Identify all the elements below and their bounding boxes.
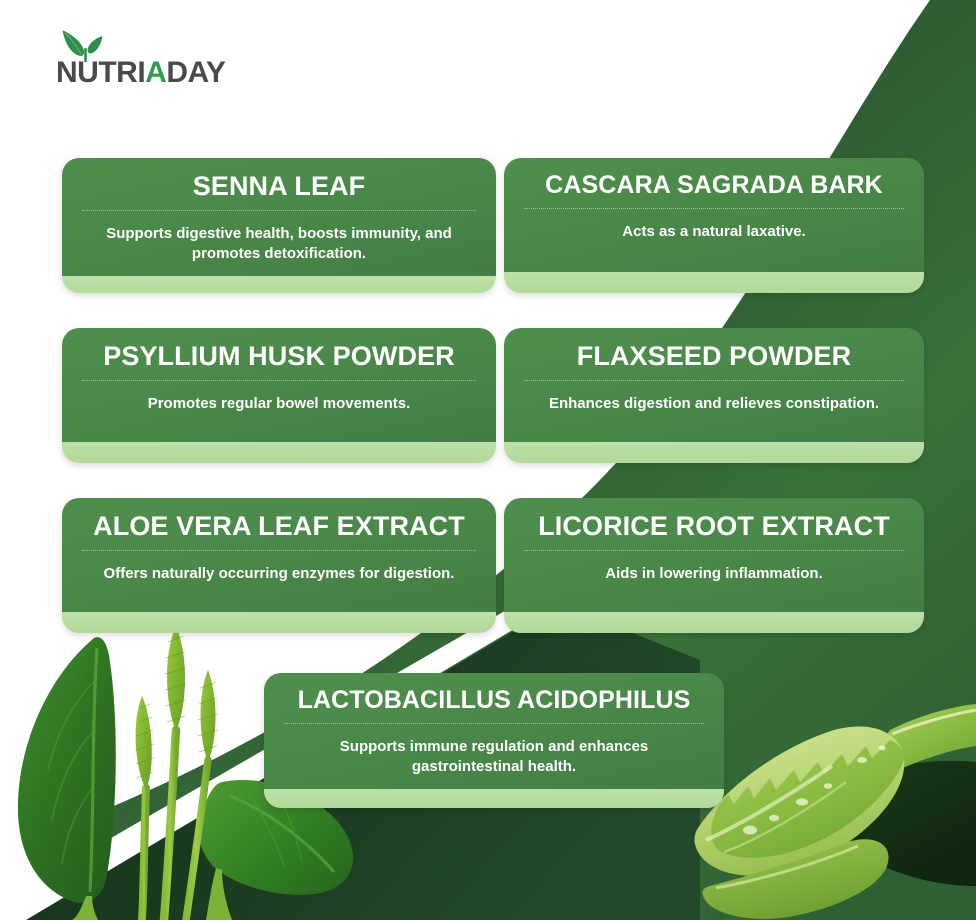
brand-logo[interactable]: NUTRIADAY — [56, 28, 225, 88]
card-footer-strip — [504, 272, 924, 293]
card-footer-strip — [504, 612, 924, 633]
card-title: LICORICE ROOT EXTRACT — [522, 512, 906, 541]
card-divider — [524, 550, 904, 551]
card-footer-strip — [62, 276, 496, 293]
card-body: SENNA LEAF Supports digestive health, bo… — [62, 158, 496, 276]
infographic-canvas: NUTRIADAY — [0, 0, 976, 920]
card-footer-strip — [62, 442, 496, 463]
card-body: LACTOBACILLUS ACIDOPHILUS Supports immun… — [264, 673, 724, 789]
card-title: CASCARA SAGRADA BARK — [522, 172, 906, 199]
card-divider — [82, 550, 476, 551]
card-body: ALOE VERA LEAF EXTRACT Offers naturally … — [62, 498, 496, 612]
card-title: LACTOBACILLUS ACIDOPHILUS — [282, 687, 706, 714]
ingredient-card-senna[interactable]: SENNA LEAF Supports digestive health, bo… — [62, 158, 496, 293]
card-title: FLAXSEED POWDER — [522, 342, 906, 371]
card-description: Supports immune regulation and enhances … — [282, 737, 706, 777]
card-title: ALOE VERA LEAF EXTRACT — [80, 512, 478, 541]
card-divider — [82, 380, 476, 381]
brand-name: NUTRIADAY — [56, 58, 225, 88]
card-description: Aids in lowering inflammation. — [522, 564, 906, 584]
brand-name-part2: DAY — [166, 56, 225, 89]
card-body: PSYLLIUM HUSK POWDER Promotes regular bo… — [62, 328, 496, 442]
card-footer-strip — [264, 789, 724, 808]
card-title: PSYLLIUM HUSK POWDER — [80, 342, 478, 371]
card-divider — [284, 723, 704, 724]
card-body: CASCARA SAGRADA BARK Acts as a natural l… — [504, 158, 924, 272]
ingredient-card-cascara[interactable]: CASCARA SAGRADA BARK Acts as a natural l… — [504, 158, 924, 293]
card-footer-strip — [504, 442, 924, 463]
brand-name-accent: A — [145, 56, 166, 89]
ingredient-card-flaxseed[interactable]: FLAXSEED POWDER Enhances digestion and r… — [504, 328, 924, 463]
card-body: LICORICE ROOT EXTRACT Aids in lowering i… — [504, 498, 924, 612]
ingredient-card-licorice[interactable]: LICORICE ROOT EXTRACT Aids in lowering i… — [504, 498, 924, 633]
card-description: Supports digestive health, boosts immuni… — [80, 224, 478, 264]
card-divider — [524, 380, 904, 381]
card-title: SENNA LEAF — [80, 172, 478, 201]
card-footer-strip — [62, 612, 496, 633]
card-divider — [82, 210, 476, 211]
card-divider — [524, 208, 904, 209]
ingredient-card-psyllium[interactable]: PSYLLIUM HUSK POWDER Promotes regular bo… — [62, 328, 496, 463]
card-description: Acts as a natural laxative. — [522, 222, 906, 242]
ingredient-card-aloe-vera[interactable]: ALOE VERA LEAF EXTRACT Offers naturally … — [62, 498, 496, 633]
card-description: Offers naturally occurring enzymes for d… — [80, 564, 478, 584]
card-description: Promotes regular bowel movements. — [80, 394, 478, 414]
ingredient-card-lactobacillus[interactable]: LACTOBACILLUS ACIDOPHILUS Supports immun… — [264, 673, 724, 808]
card-body: FLAXSEED POWDER Enhances digestion and r… — [504, 328, 924, 442]
brand-name-part1: NUTRI — [56, 56, 145, 89]
card-description: Enhances digestion and relieves constipa… — [522, 394, 906, 414]
